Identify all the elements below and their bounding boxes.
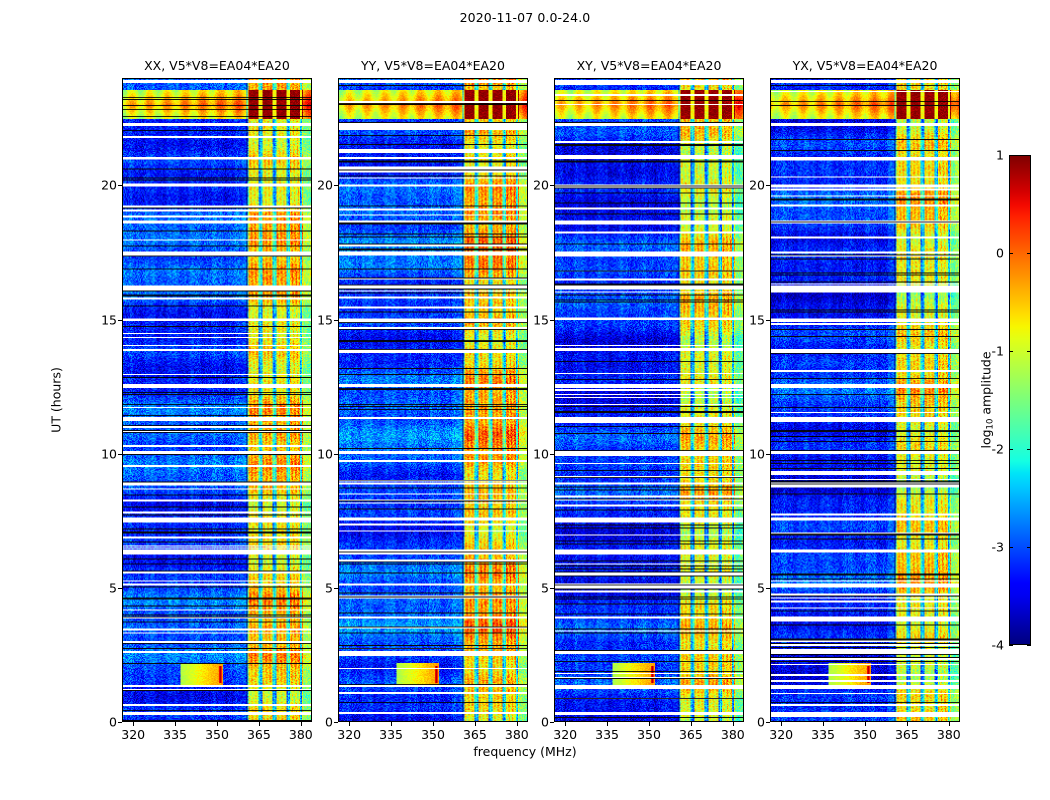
x-tick-label: 365: [679, 727, 703, 742]
x-tick-mark: [517, 722, 518, 726]
dynamic-spectrum-xx: [123, 79, 311, 721]
axes-yx[interactable]: [770, 78, 960, 722]
x-tick-mark: [781, 722, 782, 726]
colorbar-tick-mark: [1027, 351, 1031, 352]
y-tick-label: 10: [533, 446, 549, 461]
axes-xx[interactable]: [122, 78, 312, 722]
colorbar-label: log10 amplitude: [979, 351, 994, 448]
y-tick-label: 20: [749, 178, 765, 193]
y-tick-label: 5: [757, 580, 765, 595]
x-tick-label: 320: [121, 727, 145, 742]
panel-title-xy: XY, V5*V8=EA04*EA20: [554, 58, 744, 73]
y-tick-mark: [334, 320, 338, 321]
panel-xy[interactable]: XY, V5*V8=EA04*EA20 32033535036538005101…: [554, 78, 744, 722]
y-axis-label: UT (hours): [49, 367, 64, 433]
y-tick-mark: [550, 722, 554, 723]
panel-title-yx: YX, V5*V8=EA04*EA20: [770, 58, 960, 73]
figure-canvas: 2020-11-07 0.0-24.0 XX, V5*V8=EA04*EA20 …: [0, 0, 1050, 800]
colorbar-tick-mark: [1009, 253, 1013, 254]
y-tick-mark: [118, 185, 122, 186]
x-tick-label: 335: [163, 727, 187, 742]
x-tick-label: 335: [595, 727, 619, 742]
y-tick-label: 20: [317, 178, 333, 193]
y-tick-label: 20: [101, 178, 117, 193]
figure-suptitle: 2020-11-07 0.0-24.0: [0, 10, 1050, 25]
y-tick-mark: [550, 320, 554, 321]
x-tick-label: 350: [421, 727, 445, 742]
x-tick-mark: [349, 722, 350, 726]
y-tick-label: 15: [749, 312, 765, 327]
y-tick-label: 15: [533, 312, 549, 327]
y-tick-label: 5: [325, 580, 333, 595]
y-tick-mark: [550, 588, 554, 589]
colorbar-tick-mark: [1009, 645, 1013, 646]
x-tick-mark: [733, 722, 734, 726]
colorbar-tick-label: -3: [992, 540, 1004, 555]
colorbar-tick-mark: [1009, 155, 1013, 156]
x-tick-mark: [649, 722, 650, 726]
x-tick-mark: [301, 722, 302, 726]
x-tick-mark: [823, 722, 824, 726]
y-tick-label: 0: [757, 715, 765, 730]
axes-yy[interactable]: [338, 78, 528, 722]
colorbar-tick-mark: [1009, 351, 1013, 352]
colorbar-tick-label: 1: [996, 148, 1004, 163]
y-tick-label: 10: [749, 446, 765, 461]
x-tick-mark: [865, 722, 866, 726]
y-tick-mark: [766, 185, 770, 186]
dynamic-spectrum-yx: [771, 79, 959, 721]
panel-xx[interactable]: XX, V5*V8=EA04*EA20 32033535036538005101…: [122, 78, 312, 722]
colorbar[interactable]: -4-3-2-101: [1009, 155, 1031, 645]
panel-yy[interactable]: YY, V5*V8=EA04*EA20 32033535036538005101…: [338, 78, 528, 722]
x-tick-mark: [691, 722, 692, 726]
colorbar-gradient: [1009, 155, 1031, 645]
x-tick-label: 350: [637, 727, 661, 742]
x-tick-label: 335: [379, 727, 403, 742]
y-tick-label: 5: [109, 580, 117, 595]
y-tick-mark: [334, 588, 338, 589]
y-tick-mark: [766, 722, 770, 723]
x-tick-mark: [433, 722, 434, 726]
x-tick-label: 365: [895, 727, 919, 742]
colorbar-tick-mark: [1009, 547, 1013, 548]
x-tick-label: 380: [721, 727, 745, 742]
y-tick-mark: [766, 588, 770, 589]
x-tick-mark: [217, 722, 218, 726]
x-tick-mark: [949, 722, 950, 726]
x-tick-label: 320: [553, 727, 577, 742]
axes-xy[interactable]: [554, 78, 744, 722]
dynamic-spectrum-yy: [339, 79, 527, 721]
y-tick-label: 10: [101, 446, 117, 461]
y-tick-label: 15: [317, 312, 333, 327]
x-tick-mark: [907, 722, 908, 726]
y-tick-mark: [118, 320, 122, 321]
colorbar-tick-mark: [1009, 449, 1013, 450]
x-tick-label: 380: [289, 727, 313, 742]
x-tick-label: 365: [247, 727, 271, 742]
y-tick-mark: [334, 722, 338, 723]
x-tick-mark: [391, 722, 392, 726]
y-tick-mark: [550, 454, 554, 455]
x-tick-mark: [259, 722, 260, 726]
x-tick-label: 380: [505, 727, 529, 742]
x-tick-label: 320: [337, 727, 361, 742]
x-tick-mark: [133, 722, 134, 726]
dynamic-spectrum-xy: [555, 79, 743, 721]
x-tick-label: 350: [853, 727, 877, 742]
y-tick-mark: [334, 454, 338, 455]
y-tick-label: 10: [317, 446, 333, 461]
y-tick-mark: [766, 320, 770, 321]
y-tick-mark: [550, 185, 554, 186]
y-tick-label: 20: [533, 178, 549, 193]
colorbar-tick-mark: [1027, 155, 1031, 156]
y-tick-label: 0: [109, 715, 117, 730]
colorbar-tick-label: -4: [992, 638, 1004, 653]
x-axis-label: frequency (MHz): [0, 744, 1050, 759]
y-tick-label: 15: [101, 312, 117, 327]
x-tick-mark: [175, 722, 176, 726]
colorbar-tick-label: 0: [996, 246, 1004, 261]
y-tick-mark: [334, 185, 338, 186]
x-tick-label: 380: [937, 727, 961, 742]
y-tick-mark: [118, 722, 122, 723]
colorbar-tick-mark: [1027, 547, 1031, 548]
x-tick-mark: [475, 722, 476, 726]
x-tick-mark: [565, 722, 566, 726]
y-tick-mark: [118, 454, 122, 455]
y-tick-mark: [766, 454, 770, 455]
colorbar-tick-mark: [1027, 449, 1031, 450]
x-tick-label: 320: [769, 727, 793, 742]
colorbar-tick-mark: [1027, 253, 1031, 254]
y-tick-mark: [118, 588, 122, 589]
x-tick-label: 350: [205, 727, 229, 742]
y-tick-label: 5: [541, 580, 549, 595]
y-tick-label: 0: [325, 715, 333, 730]
x-tick-label: 365: [463, 727, 487, 742]
x-tick-label: 335: [811, 727, 835, 742]
x-tick-mark: [607, 722, 608, 726]
panel-title-yy: YY, V5*V8=EA04*EA20: [338, 58, 528, 73]
panel-yx[interactable]: YX, V5*V8=EA04*EA20 32033535036538005101…: [770, 78, 960, 722]
colorbar-tick-mark: [1027, 645, 1031, 646]
y-tick-label: 0: [541, 715, 549, 730]
panel-title-xx: XX, V5*V8=EA04*EA20: [122, 58, 312, 73]
